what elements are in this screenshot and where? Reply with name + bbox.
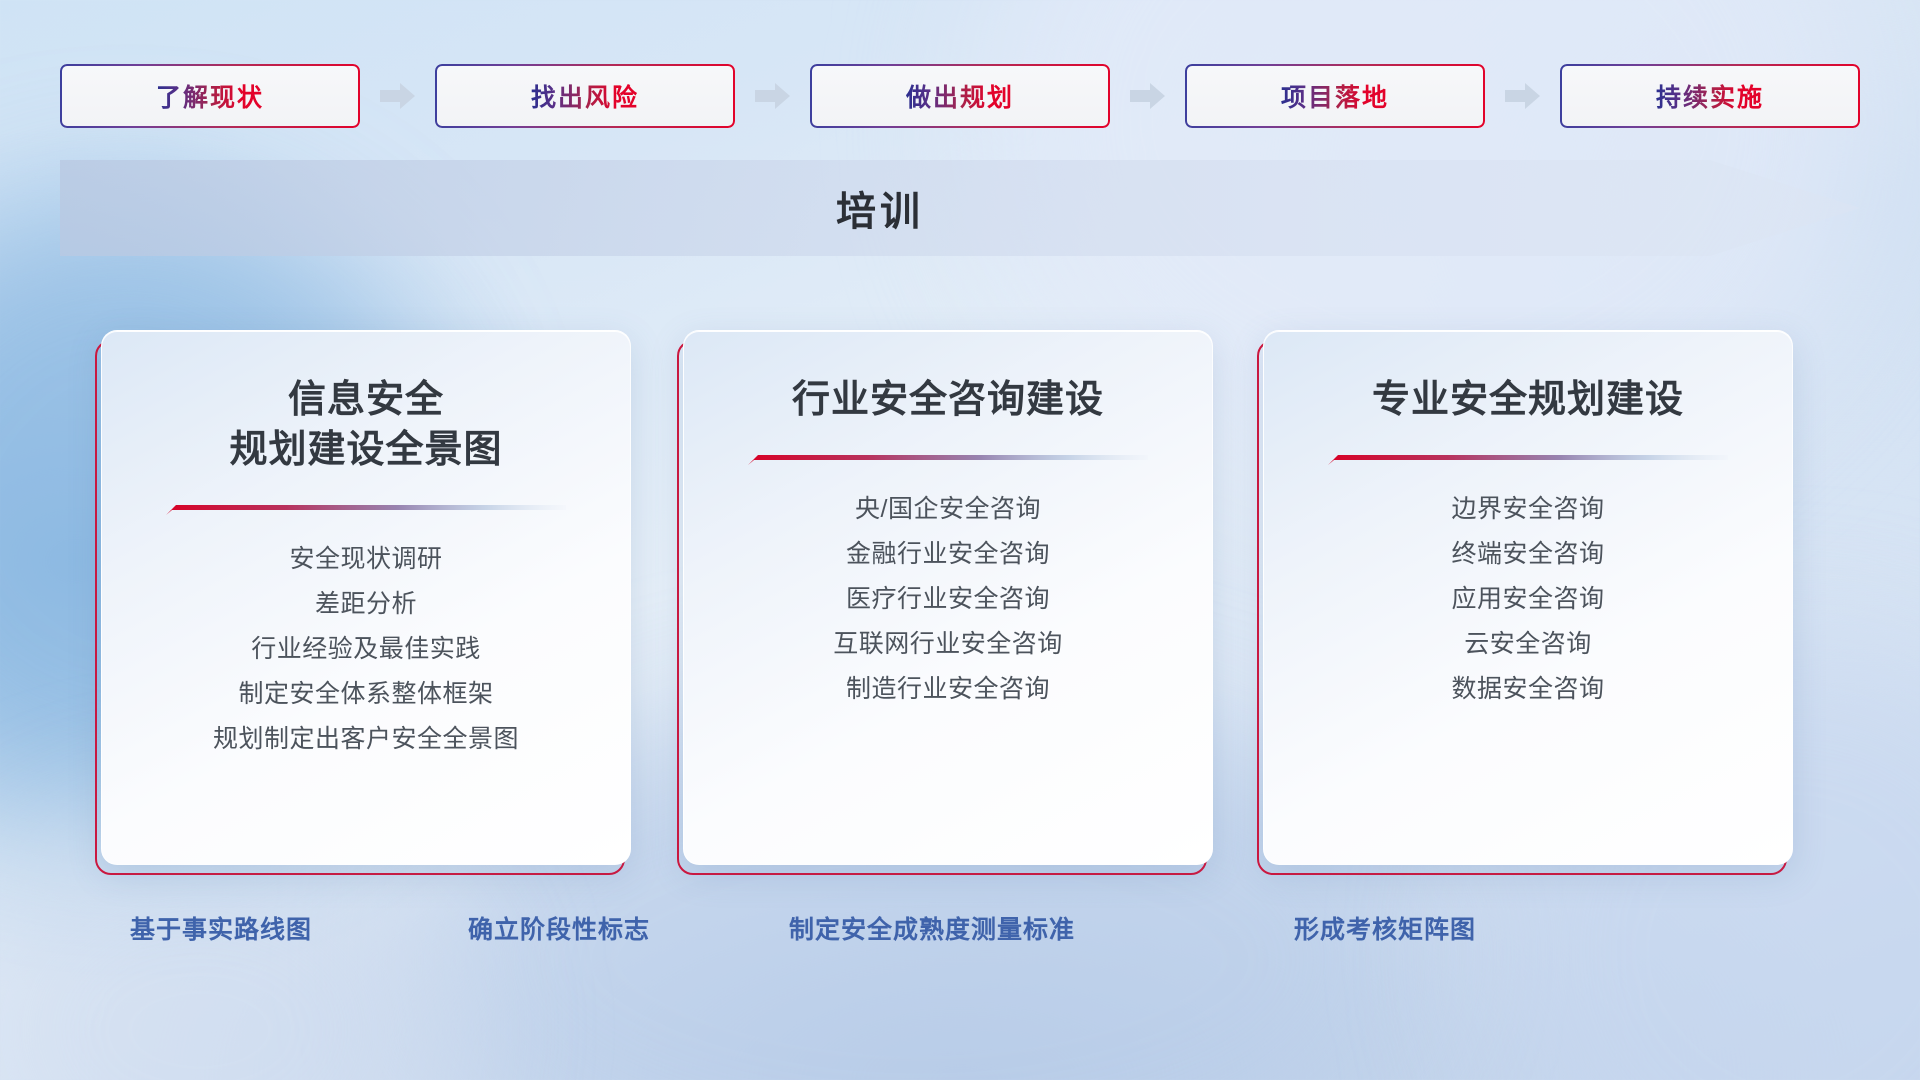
- list-item: 规划制定出客户安全全景图: [102, 727, 630, 752]
- card-divider: [1328, 451, 1728, 469]
- card-surface: 专业安全规划建设 边界安全咨询 终端安全咨询 应用安全咨询 云安全: [1263, 330, 1793, 865]
- step-item-1[interactable]: 了解现状: [60, 64, 360, 128]
- step-item-5[interactable]: 持续实施: [1560, 64, 1860, 128]
- caption-2: 确立阶段性标志: [468, 910, 650, 946]
- list-item: 差距分析: [102, 592, 630, 617]
- step-item-3[interactable]: 做出规划: [810, 64, 1110, 128]
- list-item: 终端安全咨询: [1264, 542, 1792, 567]
- card-title: 信息安全 规划建设全景图: [102, 375, 630, 475]
- arrow-right-icon: [1505, 81, 1541, 111]
- list-item: 数据安全咨询: [1264, 677, 1792, 702]
- caption-4: 形成考核矩阵图: [1294, 910, 1476, 946]
- step-label: 做出规划: [906, 78, 1014, 114]
- step-label: 找出风险: [531, 78, 639, 114]
- list-item: 边界安全咨询: [1264, 497, 1792, 522]
- card-divider: [166, 501, 566, 519]
- step-label: 项目落地: [1281, 78, 1389, 114]
- card-2[interactable]: 行业安全咨询建设 央/国企安全咨询 金融行业安全咨询 医疗行业安全咨询: [677, 330, 1207, 875]
- card-surface: 信息安全 规划建设全景图 安全现状调研 差距分析 行业经验及最佳实践: [101, 330, 631, 865]
- list-item: 云安全咨询: [1264, 632, 1792, 657]
- arrow-right-icon: [380, 81, 416, 111]
- banner-title: 培训: [60, 160, 1700, 256]
- step-item-4[interactable]: 项目落地: [1185, 64, 1485, 128]
- list-item: 央/国企安全咨询: [684, 497, 1212, 522]
- card-row: 信息安全 规划建设全景图 安全现状调研 差距分析 行业经验及最佳实践: [95, 330, 1870, 875]
- list-item: 行业经验及最佳实践: [102, 637, 630, 662]
- card-divider: [748, 451, 1148, 469]
- training-banner: 培训: [60, 160, 1860, 256]
- card-title: 行业安全咨询建设: [684, 375, 1212, 425]
- card-item-list: 安全现状调研 差距分析 行业经验及最佳实践 制定安全体系整体框架 规划制定出客户…: [102, 547, 630, 752]
- card-item-list: 边界安全咨询 终端安全咨询 应用安全咨询 云安全咨询 数据安全咨询: [1264, 497, 1792, 702]
- list-item: 制定安全体系整体框架: [102, 682, 630, 707]
- arrow-right-icon: [1130, 81, 1166, 111]
- caption-1: 基于事实路线图: [130, 910, 312, 946]
- step-item-2[interactable]: 找出风险: [435, 64, 735, 128]
- card-title: 专业安全规划建设: [1264, 375, 1792, 425]
- list-item: 互联网行业安全咨询: [684, 632, 1212, 657]
- step-label: 持续实施: [1656, 78, 1764, 114]
- card-3[interactable]: 专业安全规划建设 边界安全咨询 终端安全咨询 应用安全咨询 云安全: [1257, 330, 1787, 875]
- arrow-right-icon: [755, 81, 791, 111]
- list-item: 医疗行业安全咨询: [684, 587, 1212, 612]
- process-step-row: 了解现状 找出风险 做出规划 项目落地 持续实施: [60, 62, 1860, 130]
- list-item: 应用安全咨询: [1264, 587, 1792, 612]
- list-item: 金融行业安全咨询: [684, 542, 1212, 567]
- list-item: 制造行业安全咨询: [684, 677, 1212, 702]
- step-label: 了解现状: [156, 78, 264, 114]
- card-surface: 行业安全咨询建设 央/国企安全咨询 金融行业安全咨询 医疗行业安全咨询: [683, 330, 1213, 865]
- caption-3: 制定安全成熟度测量标准: [789, 910, 1075, 946]
- caption-row: 基于事实路线图 确立阶段性标志 制定安全成熟度测量标准 形成考核矩阵图: [0, 910, 1920, 960]
- card-item-list: 央/国企安全咨询 金融行业安全咨询 医疗行业安全咨询 互联网行业安全咨询 制造行…: [684, 497, 1212, 702]
- list-item: 安全现状调研: [102, 547, 630, 572]
- card-1[interactable]: 信息安全 规划建设全景图 安全现状调研 差距分析 行业经验及最佳实践: [95, 330, 625, 875]
